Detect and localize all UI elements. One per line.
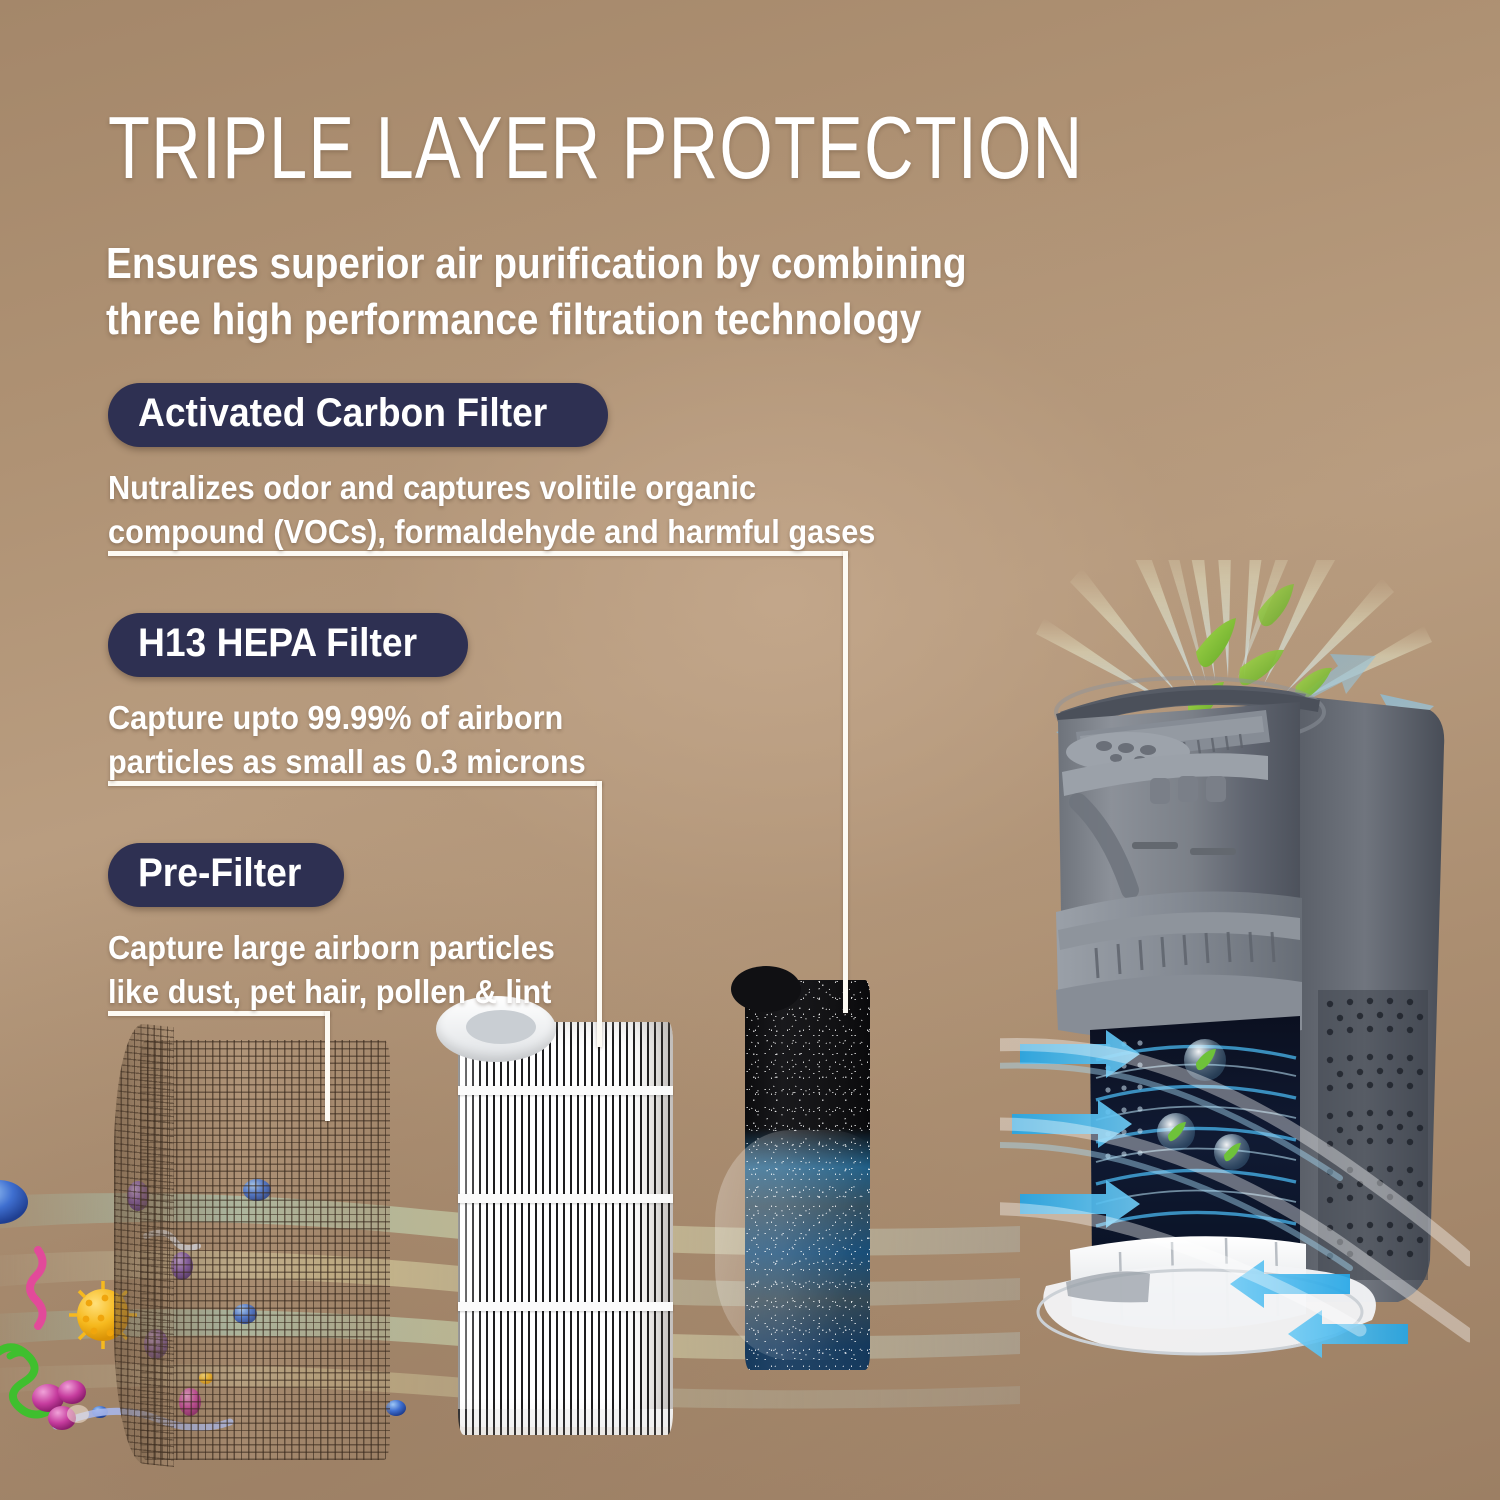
badge-activated-carbon-filter[interactable]: Activated Carbon Filter [108, 383, 608, 447]
infographic-canvas: TRIPLE LAYER PROTECTION Ensures superior… [0, 0, 1500, 1500]
connector-carbon-vertical [843, 551, 848, 1013]
pleated-hepa-filter [458, 1022, 673, 1427]
badge-label: Activated Carbon Filter [138, 392, 547, 435]
connector-prefilter-vertical [325, 1011, 330, 1121]
callout-h13-hepa: H13 HEPA Filter Capture upto 99.99% of a… [108, 613, 622, 783]
badge-pre-filter[interactable]: Pre-Filter [108, 843, 344, 907]
page-title: TRIPLE LAYER PROTECTION [108, 104, 1083, 192]
callout-description-carbon: Nutralizes odor and captures volitile or… [108, 466, 875, 553]
activated-carbon-filter [745, 980, 870, 1370]
badge-h13-hepa-filter[interactable]: H13 HEPA Filter [108, 613, 468, 677]
callout-description-prefilter: Capture large airborn particles like dus… [108, 926, 555, 1013]
callout-description-hepa: Capture upto 99.99% of airborn particles… [108, 696, 586, 783]
mesh-pre-filter [140, 1040, 390, 1460]
badge-label: H13 HEPA Filter [138, 622, 417, 665]
badge-label: Pre-Filter [138, 852, 301, 895]
callout-pre-filter: Pre-Filter Capture large airborn particl… [108, 843, 588, 1013]
connector-hepa-vertical [597, 781, 602, 1047]
callout-activated-carbon: Activated Carbon Filter Nutralizes odor … [108, 383, 933, 553]
air-purifier-cutaway [1000, 560, 1470, 1400]
page-subtitle: Ensures superior air purification by com… [106, 236, 986, 349]
